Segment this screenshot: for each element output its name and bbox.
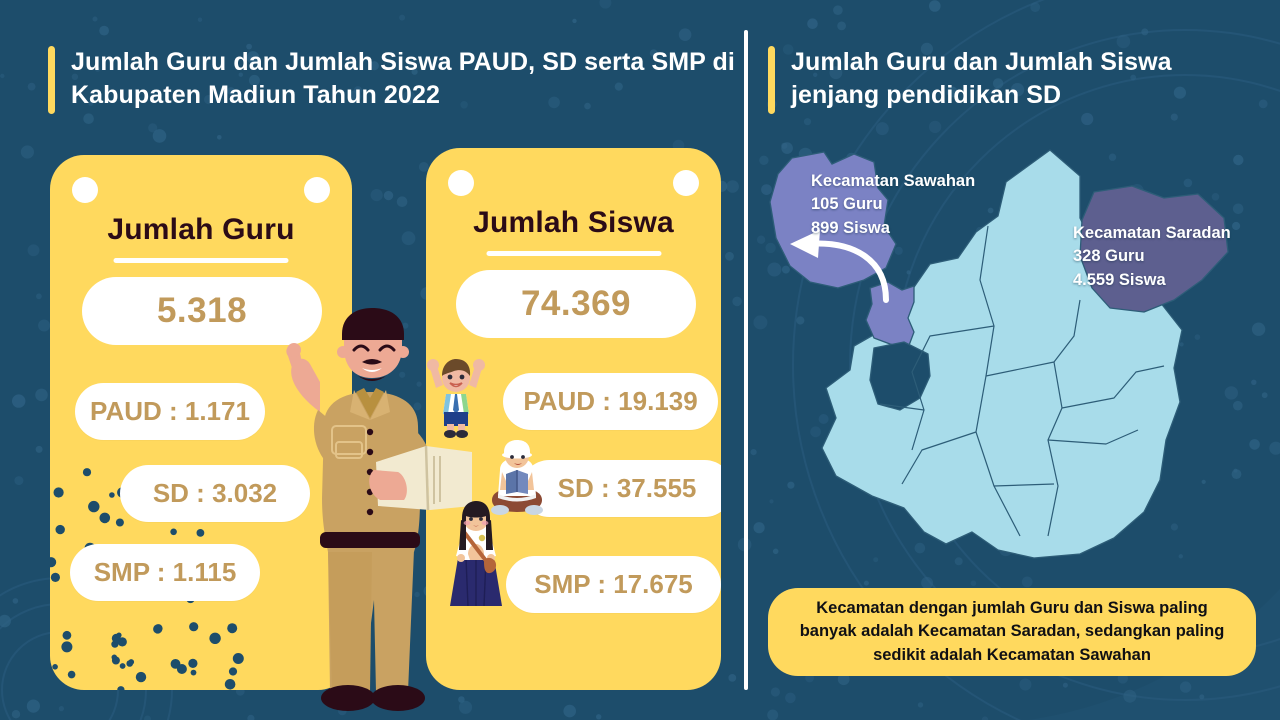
map-label-saradan-teachers: 328 Guru xyxy=(1073,245,1231,268)
title-accent-bar-left xyxy=(48,46,55,114)
right-panel-title-text: Jumlah Guru dan Jumlah Siswa jenjang pen… xyxy=(791,46,1238,112)
card-siswa-heading: Jumlah Siswa xyxy=(426,206,721,240)
left-panel-title-text: Jumlah Guru dan Jumlah Siswa PAUD, SD se… xyxy=(71,46,738,112)
map-caption-text: Kecamatan dengan jumlah Guru dan Siswa p… xyxy=(786,597,1238,667)
card-siswa-paud-value: PAUD : 19.139 xyxy=(503,373,718,430)
card-guru-rule xyxy=(114,258,289,263)
map-label-sawahan-students: 899 Siswa xyxy=(811,217,975,240)
panel-divider xyxy=(744,30,748,690)
map-label-saradan-district: Kecamatan Saradan xyxy=(1073,222,1231,245)
map-label-saradan-students: 4.559 Siswa xyxy=(1073,269,1231,292)
student-girl-illustration xyxy=(440,498,512,610)
map-caption-box: Kecamatan dengan jumlah Guru dan Siswa p… xyxy=(768,588,1256,676)
card-punch-hole-right xyxy=(304,177,330,203)
card-siswa-total-value: 74.369 xyxy=(456,270,696,338)
card-guru-paud-value: PAUD : 1.171 xyxy=(75,383,265,440)
card-guru-smp-value: SMP : 1.115 xyxy=(70,544,260,601)
infographic-stage: Jumlah Guru dan Jumlah Siswa PAUD, SD se… xyxy=(0,0,1280,720)
card-guru-heading: Jumlah Guru xyxy=(50,213,352,247)
right-panel-title: Jumlah Guru dan Jumlah Siswa jenjang pen… xyxy=(768,46,1238,114)
card-punch-hole-left xyxy=(72,177,98,203)
card-siswa-smp-value: SMP : 17.675 xyxy=(506,556,721,613)
student-boy-cheering-illustration xyxy=(424,352,488,438)
card-punch-hole-left xyxy=(448,170,474,196)
title-accent-bar-right xyxy=(768,46,775,114)
map-label-saradan: Kecamatan Saradan 328 Guru 4.559 Siswa xyxy=(1073,222,1231,292)
left-panel-title: Jumlah Guru dan Jumlah Siswa PAUD, SD se… xyxy=(48,46,738,114)
card-siswa-rule xyxy=(486,251,661,256)
map-label-sawahan: Kecamatan Sawahan 105 Guru 899 Siswa xyxy=(811,170,975,240)
map-label-sawahan-district: Kecamatan Sawahan xyxy=(811,170,975,193)
card-punch-hole-right xyxy=(673,170,699,196)
map-label-sawahan-teachers: 105 Guru xyxy=(811,193,975,216)
